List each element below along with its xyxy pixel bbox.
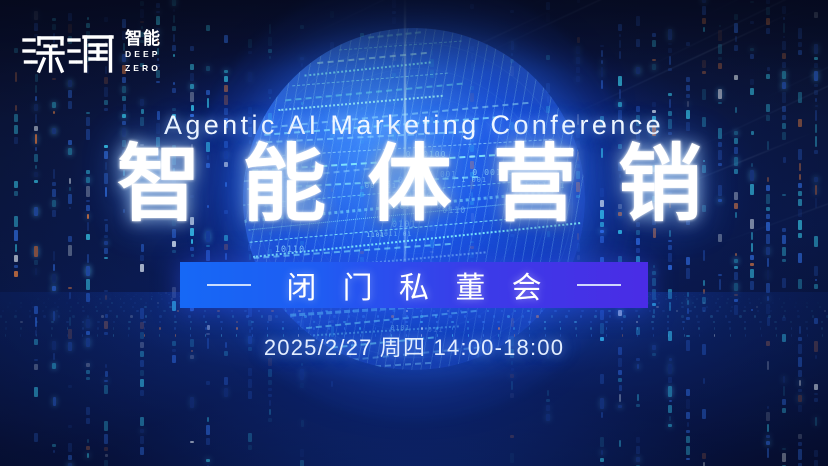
brand-logo[interactable]: 智能 DEEP ZERO [22,30,161,75]
subtitle-text: 闭 门 私 董 会 [277,263,550,307]
page-title: 智 能 体 营 销 [0,142,828,226]
brand-name-en-line1: DEEP [125,49,161,61]
brand-name-cn: 智能 [125,30,161,47]
conference-poster: 1011001011 0010110001101011 0100 1010111… [0,0,828,466]
brand-name-en-line2: ZERO [125,63,161,75]
brand-wordmark: 智能 DEEP ZERO [125,30,161,75]
event-datetime: 2025/2/27 周四 14:00-18:00 [0,330,828,362]
ribbon-dash-right [577,284,621,286]
ribbon-dash-left [207,284,251,286]
shenyan-logo-mark-icon [22,31,118,75]
subtitle-ribbon: 闭 门 私 董 会 [180,262,648,308]
